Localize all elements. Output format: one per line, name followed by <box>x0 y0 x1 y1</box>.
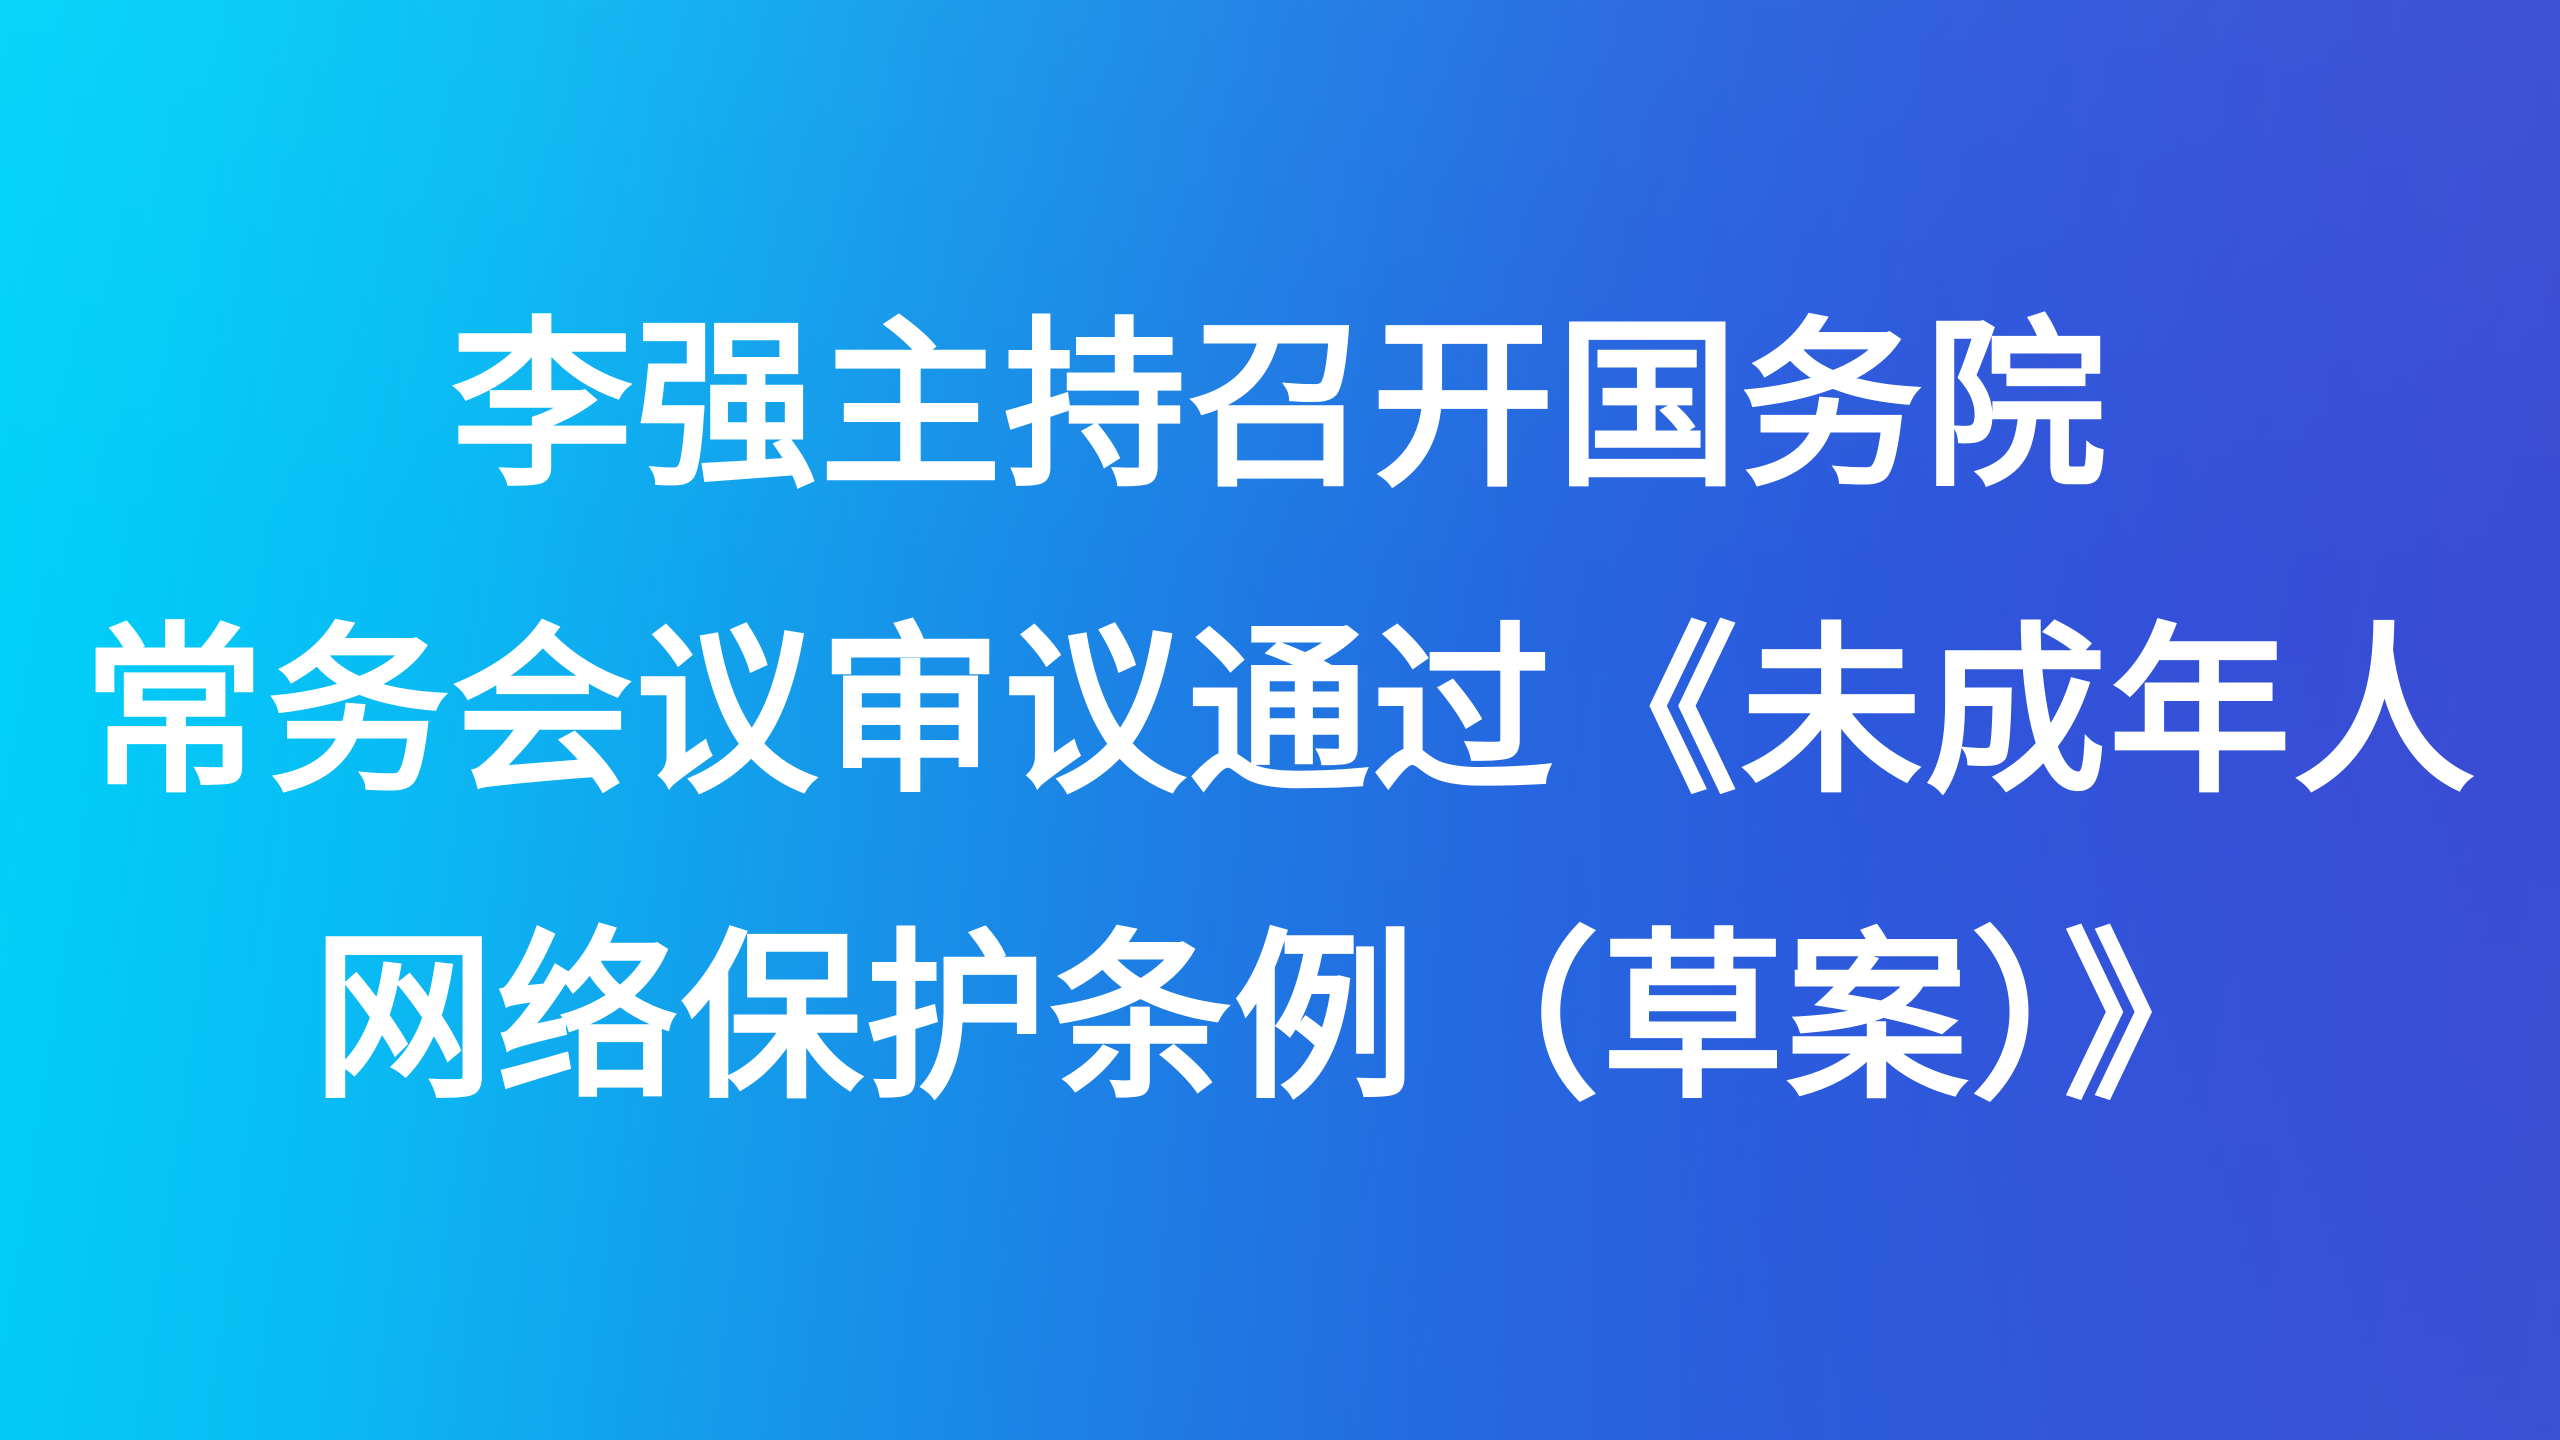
gradient-poster: 李强主持召开国务院 常务会议审议通过《未成年人 网络保护条例（草案）》 <box>0 0 2560 1440</box>
headline-line-1: 李强主持召开国务院 <box>451 254 2109 560</box>
headline-line-3: 网络保护条例（草案）》 <box>312 866 2247 1172</box>
headline-line-2: 常务会议审议通过《未成年人 <box>83 560 2477 866</box>
headline-block: 李强主持召开国务院 常务会议审议通过《未成年人 网络保护条例（草案）》 <box>0 0 2560 1440</box>
